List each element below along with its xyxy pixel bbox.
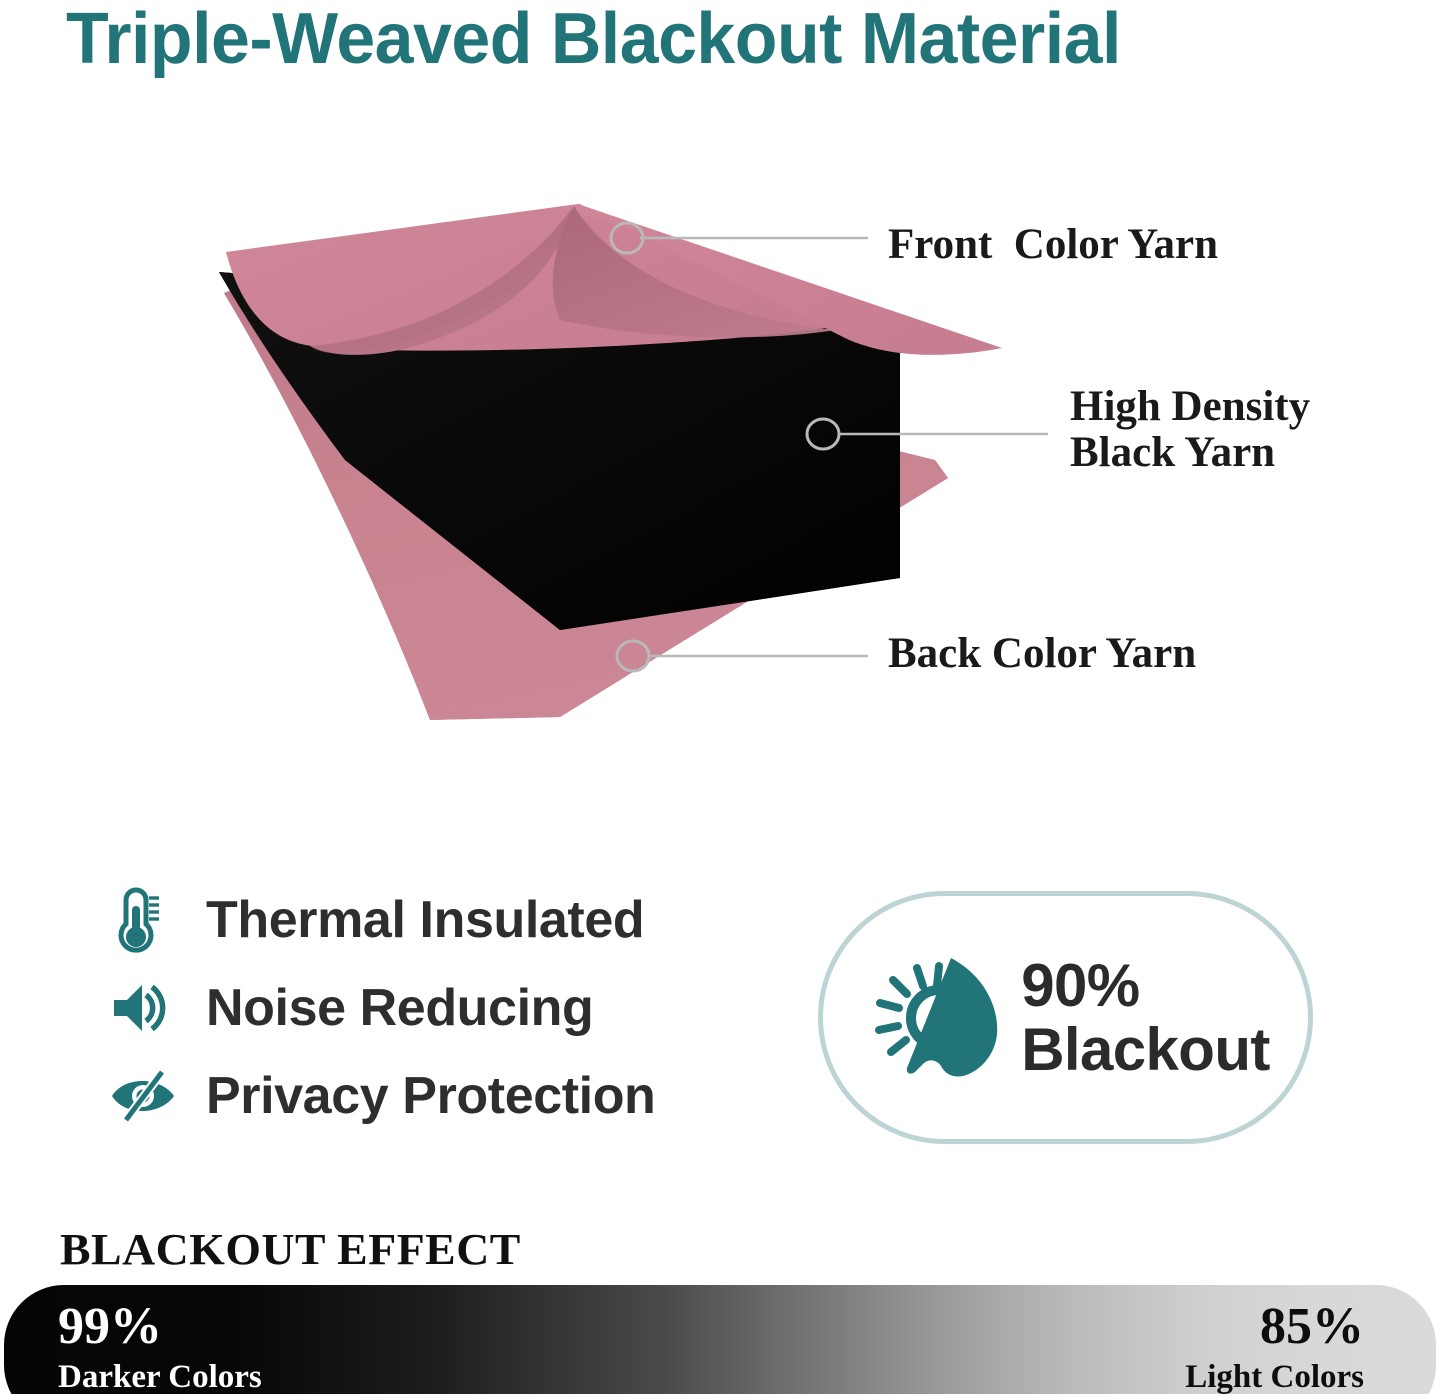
- infographic-page: Triple-Weaved Blackout Material: [0, 0, 1445, 1394]
- blackout-effect-gradient-bar: 99% Darker Colors 85% Light Colors: [4, 1285, 1436, 1394]
- thermometer-icon: [108, 884, 184, 956]
- sun-blocked-by-shade-icon: [861, 948, 1013, 1088]
- front-color-yarn-layer: [224, 204, 1002, 357]
- feature-label-noise-reducing: Noise Reducing: [206, 978, 593, 1038]
- speaker-volume-icon: [108, 977, 184, 1039]
- badge-word: Blackout: [1021, 1020, 1270, 1080]
- page-title: Triple-Weaved Blackout Material: [66, 0, 1356, 80]
- feature-item-privacy-protection: Privacy Protection: [108, 1052, 748, 1140]
- callout-label-back-color-yarn: Back Color Yarn: [888, 631, 1196, 677]
- blackout-effect-right-stat: 85% Light Colors: [1185, 1301, 1364, 1394]
- light-colors-caption: Light Colors: [1185, 1361, 1364, 1394]
- badge-percent: 90%: [1021, 956, 1270, 1016]
- blackout-effect-heading: BLACKOUT EFFECT: [60, 1224, 521, 1275]
- darker-colors-caption: Darker Colors: [58, 1361, 262, 1394]
- feature-item-noise-reducing: Noise Reducing: [108, 964, 748, 1052]
- blackout-percentage-badge: 90% Blackout: [818, 891, 1313, 1144]
- badge-text-block: 90% Blackout: [1021, 956, 1270, 1080]
- darker-colors-value: 99%: [58, 1301, 262, 1353]
- feature-label-privacy-protection: Privacy Protection: [206, 1066, 655, 1126]
- callout-label-high-density-black-yarn: High Density Black Yarn: [1070, 384, 1310, 477]
- feature-list: Thermal Insulated Noise Reducing: [108, 876, 748, 1140]
- blackout-effect-left-stat: 99% Darker Colors: [58, 1301, 262, 1394]
- light-colors-value: 85%: [1185, 1301, 1364, 1353]
- callout-label-front-color-yarn: Front Color Yarn: [888, 222, 1218, 268]
- eye-slash-icon: [108, 1068, 184, 1124]
- feature-label-thermal-insulated: Thermal Insulated: [206, 890, 644, 950]
- feature-item-thermal-insulated: Thermal Insulated: [108, 876, 748, 964]
